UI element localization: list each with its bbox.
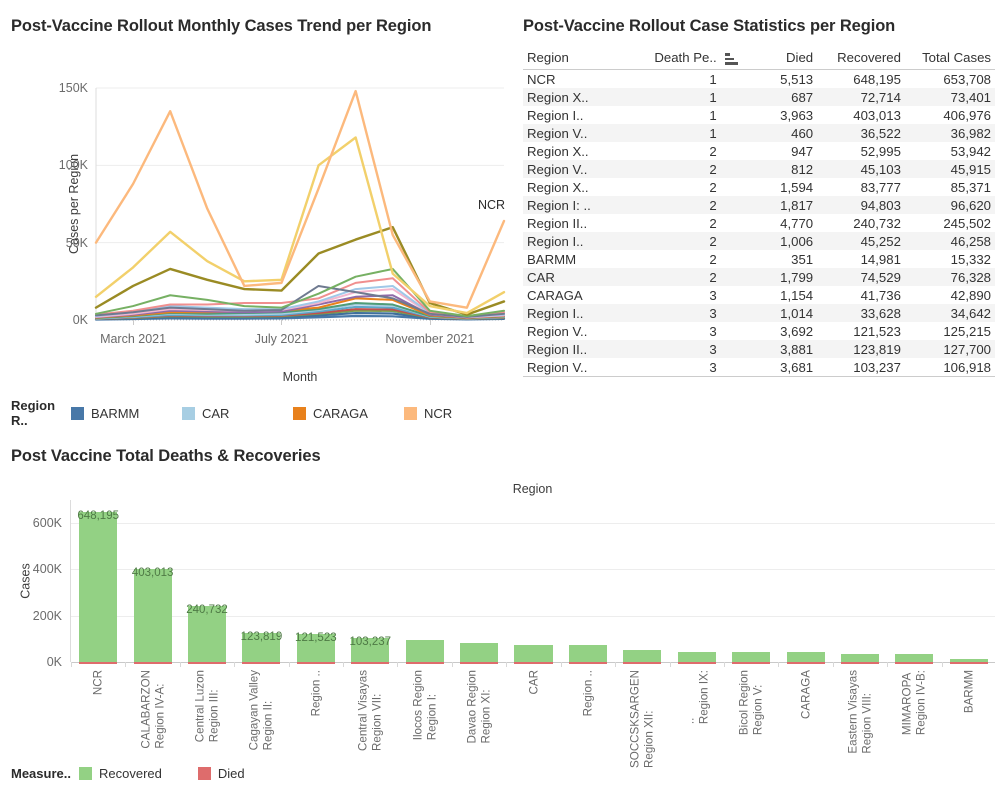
bar-recovered[interactable]: [406, 640, 444, 662]
bar-recovered[interactable]: [678, 652, 716, 662]
bar-x-label-line: Central Visayas: [357, 670, 370, 751]
bar-died[interactable]: [623, 662, 661, 664]
bar-x-label-line: Region VIII:: [860, 670, 873, 754]
table-row[interactable]: CAR21,79974,52976,328: [523, 268, 995, 286]
bar-x-label-line: Eastern Visayas: [846, 670, 859, 754]
cell-total-cases: 125,215: [905, 322, 995, 340]
bar-x-label-line: Region II:: [262, 670, 275, 750]
cell-total-cases: 653,708: [905, 70, 995, 89]
cell-spacer: [721, 106, 751, 124]
cell-recovered: 36,522: [817, 124, 905, 142]
cell-total-cases: 46,258: [905, 232, 995, 250]
legend-label: BARMM: [91, 406, 139, 421]
cell-spacer: [721, 232, 751, 250]
bar-x-tick-mark: [778, 662, 779, 667]
bar-died[interactable]: [569, 662, 607, 664]
bar-x-label: Region IV-A:CALABARZON: [139, 670, 166, 749]
bar-died[interactable]: [950, 662, 988, 664]
bar-x-label-line: Region IV-A:: [153, 670, 166, 749]
cell-recovered: 121,523: [817, 322, 905, 340]
bar-legend-item-died[interactable]: Died: [198, 766, 245, 781]
bar-recovered[interactable]: [732, 652, 770, 662]
cell-died: 812: [751, 160, 818, 178]
bar-data-label: 123,819: [241, 631, 283, 643]
bar-legend-items: RecoveredDied: [79, 766, 281, 781]
bar-column[interactable]: [787, 500, 825, 662]
bar-died[interactable]: [514, 662, 552, 664]
cell-region: Region V..: [523, 358, 627, 377]
bar-x-label-line: Region ..: [309, 670, 322, 716]
line-x-tick-mark: [430, 320, 431, 325]
cell-total-cases: 96,620: [905, 196, 995, 214]
cell-region: Region X..: [523, 88, 627, 106]
legend-items: BARMMCARCARAGANCR: [71, 406, 515, 421]
bar-legend-swatch: [198, 767, 211, 780]
bar-column[interactable]: [623, 500, 661, 662]
bar-x-label-line: ..: [683, 670, 696, 724]
bar-column[interactable]: [79, 500, 117, 662]
bar-x-label-line: Region IX:: [697, 670, 710, 724]
bar-x-label: Region VIII:Eastern Visayas: [846, 670, 873, 754]
column-header-death-percentage[interactable]: Death Pe..: [627, 48, 721, 70]
bar-x-label-line: CALABARZON: [139, 670, 152, 749]
table-row[interactable]: Region I..13,963403,013406,976: [523, 106, 995, 124]
line-y-tick: 0K: [73, 313, 88, 327]
bar-recovered[interactable]: [460, 643, 498, 662]
line-x-tick-mark: [281, 320, 282, 325]
cell-total-cases: 73,401: [905, 88, 995, 106]
table-title: Post-Vaccine Rollout Case Statistics per…: [523, 16, 998, 38]
bar-legend-swatch: [79, 767, 92, 780]
line-series: [96, 137, 504, 313]
cell-recovered: 33,628: [817, 304, 905, 322]
cell-spacer: [721, 268, 751, 286]
bar-chart-title: Post Vaccine Total Deaths & Recoveries: [11, 446, 611, 468]
legend-label: CAR: [202, 406, 229, 421]
bar-y-tick: 0K: [47, 655, 62, 669]
case-statistics-table: Region Death Pe.. Died Recovered Total C…: [523, 48, 995, 377]
cell-died: 3,881: [751, 340, 818, 358]
cell-recovered: 72,714: [817, 88, 905, 106]
bar-y-tick: 400K: [33, 562, 62, 576]
bar-legend-title: Measure..: [11, 766, 71, 781]
legend-swatch: [182, 407, 195, 420]
bar-x-tick-mark: [615, 662, 616, 667]
line-x-tick: March 2021: [100, 332, 166, 346]
bar-x-label: BARMM: [962, 670, 975, 713]
cell-spacer: [721, 88, 751, 106]
bar-column[interactable]: [188, 500, 226, 662]
cell-spacer: [721, 214, 751, 232]
legend-item-barmm[interactable]: BARMM: [71, 406, 182, 421]
cell-spacer: [721, 340, 751, 358]
bar-recovered[interactable]: [79, 512, 117, 662]
table-row[interactable]: Region I..21,00645,25246,258: [523, 232, 995, 250]
cell-spacer: [721, 250, 751, 268]
cell-death-percentage: 2: [627, 214, 721, 232]
cell-died: 1,014: [751, 304, 818, 322]
bar-x-label-line: Region IV-B:: [915, 670, 928, 735]
cell-death-percentage: 1: [627, 106, 721, 124]
line-y-tick: 50K: [66, 236, 88, 250]
bar-data-label: 240,732: [186, 604, 228, 616]
bar-x-tick-mark: [506, 662, 507, 667]
bar-died[interactable]: [895, 662, 933, 664]
bar-y-axis-title: Cases: [19, 563, 33, 598]
bar-column[interactable]: [841, 500, 879, 662]
line-y-tick: 100K: [59, 158, 88, 172]
legend-title: Region R..: [11, 398, 63, 428]
bar-x-tick-mark: [234, 662, 235, 667]
bar-x-label: Region IV-B:MIMAROPA: [901, 670, 928, 735]
bar-x-tick-mark: [289, 662, 290, 667]
bar-x-label: Region III:Central Luzon: [194, 670, 221, 742]
cell-death-percentage: 2: [627, 268, 721, 286]
cell-recovered: 403,013: [817, 106, 905, 124]
table-header-row: Region Death Pe.. Died Recovered Total C…: [523, 48, 995, 70]
cell-death-percentage: 3: [627, 286, 721, 304]
cell-recovered: 41,736: [817, 286, 905, 304]
bar-x-label-line: BARMM: [962, 670, 975, 713]
cell-total-cases: 106,918: [905, 358, 995, 377]
bar-died[interactable]: [188, 662, 226, 664]
cell-death-percentage: 1: [627, 88, 721, 106]
bar-x-tick-mark: [887, 662, 888, 667]
table-row[interactable]: Region I..31,01433,62834,642: [523, 304, 995, 322]
table-row[interactable]: BARMM235114,98115,332: [523, 250, 995, 268]
bar-y-tick: 600K: [33, 516, 62, 530]
cell-death-percentage: 3: [627, 322, 721, 340]
bar-x-label: NCR: [92, 670, 105, 695]
cell-died: 1,817: [751, 196, 818, 214]
cell-region: Region V..: [523, 124, 627, 142]
cell-death-percentage: 2: [627, 232, 721, 250]
bar-column[interactable]: [134, 500, 172, 662]
cell-recovered: 14,981: [817, 250, 905, 268]
bar-died[interactable]: [678, 662, 716, 664]
table-row[interactable]: NCR15,513648,195653,708: [523, 70, 995, 89]
table-row[interactable]: Region X..168772,71473,401: [523, 88, 995, 106]
monthly-cases-trend-panel: Post-Vaccine Rollout Monthly Cases Trend…: [0, 0, 515, 432]
cell-region: Region I..: [523, 304, 627, 322]
table-row[interactable]: Region V..146036,52236,982: [523, 124, 995, 142]
cell-recovered: 52,995: [817, 142, 905, 160]
cell-death-percentage: 2: [627, 250, 721, 268]
bar-x-tick-mark: [670, 662, 671, 667]
bar-recovered[interactable]: [623, 650, 661, 662]
bar-x-tick-mark: [833, 662, 834, 667]
cell-recovered: 123,819: [817, 340, 905, 358]
measure-color-legend: Measure.. RecoveredDied: [11, 766, 281, 781]
bar-x-tick-mark: [71, 662, 72, 667]
column-header-died[interactable]: Died: [751, 48, 818, 70]
legend-item-car[interactable]: CAR: [182, 406, 293, 421]
column-header-total-cases[interactable]: Total Cases: [905, 48, 995, 70]
line-y-tick: 150K: [59, 81, 88, 95]
cell-region: Region X..: [523, 142, 627, 160]
cell-region: Region II..: [523, 214, 627, 232]
cell-death-percentage: 1: [627, 70, 721, 89]
bar-x-label-line: NCR: [92, 670, 105, 695]
bar-data-label: 648,195: [77, 510, 119, 522]
cell-region: Region I..: [523, 106, 627, 124]
cell-died: 1,006: [751, 232, 818, 250]
cell-spacer: [721, 178, 751, 196]
bar-x-tick-mark: [125, 662, 126, 667]
cell-death-percentage: 2: [627, 142, 721, 160]
bar-x-label-line: Region V:: [752, 670, 765, 735]
bar-column[interactable]: [678, 500, 716, 662]
bar-recovered[interactable]: [841, 654, 879, 662]
bar-died[interactable]: [460, 662, 498, 664]
table-row[interactable]: Region X..21,59483,77785,371: [523, 178, 995, 196]
cell-died: 947: [751, 142, 818, 160]
cell-died: 460: [751, 124, 818, 142]
bar-x-label-line: Region I:: [425, 670, 438, 740]
cell-region: Region II..: [523, 340, 627, 358]
bar-recovered[interactable]: [514, 645, 552, 662]
line-chart-plot-area: Cases per Region 0K50K100K150KMarch 2021…: [96, 88, 504, 320]
cell-spacer: [721, 358, 751, 377]
bar-x-tick-mark: [180, 662, 181, 667]
bar-x-label-line: Region VII:: [371, 670, 384, 751]
cell-died: 1,154: [751, 286, 818, 304]
bar-x-label-line: Region ..: [581, 670, 594, 716]
cell-total-cases: 36,982: [905, 124, 995, 142]
bar-x-label: Region XI:Davao Region: [466, 670, 493, 743]
bar-recovered[interactable]: [895, 654, 933, 662]
bar-data-label: 103,237: [349, 636, 391, 648]
bar-x-tick-mark: [343, 662, 344, 667]
cell-region: Region I..: [523, 232, 627, 250]
table-row[interactable]: Region V..33,692121,523125,215: [523, 322, 995, 340]
region-color-legend: Region R.. BARMMCARCARAGANCR: [11, 398, 515, 428]
cell-spacer: [721, 124, 751, 142]
bar-x-tick-mark: [452, 662, 453, 667]
bar-x-label: Region II:Cagayan Valley: [248, 670, 275, 750]
legend-label: CARAGA: [313, 406, 368, 421]
legend-item-ncr[interactable]: NCR: [404, 406, 515, 421]
legend-swatch: [293, 407, 306, 420]
bar-column[interactable]: [895, 500, 933, 662]
table-row[interactable]: Region V..33,681103,237106,918: [523, 358, 995, 377]
cell-total-cases: 127,700: [905, 340, 995, 358]
cell-death-percentage: 2: [627, 160, 721, 178]
bar-x-label: Region VII:Central Visayas: [357, 670, 384, 751]
bar-x-label-line: Central Luzon: [194, 670, 207, 742]
table-row[interactable]: Region V..281245,10345,915: [523, 160, 995, 178]
cell-spacer: [721, 304, 751, 322]
bar-x-tick-mark: [942, 662, 943, 667]
cell-died: 3,692: [751, 322, 818, 340]
line-x-tick: November 2021: [385, 332, 474, 346]
cell-region: BARMM: [523, 250, 627, 268]
bar-died[interactable]: [242, 662, 280, 664]
cell-region: CARAGA: [523, 286, 627, 304]
cell-region: CAR: [523, 268, 627, 286]
cell-recovered: 45,252: [817, 232, 905, 250]
bar-column[interactable]: [950, 500, 988, 662]
bar-legend-label: Recovered: [99, 766, 162, 781]
cell-spacer: [721, 286, 751, 304]
bar-x-label-line: SOCCSKSARGEN: [629, 670, 642, 768]
bar-died[interactable]: [406, 662, 444, 664]
bar-x-label: Region I:Ilocos Region: [411, 670, 438, 740]
bar-died[interactable]: [79, 662, 117, 664]
bar-x-label-line: Region III:: [208, 670, 221, 742]
cell-total-cases: 53,942: [905, 142, 995, 160]
legend-swatch: [71, 407, 84, 420]
bar-column[interactable]: [732, 500, 770, 662]
column-header-region[interactable]: Region: [523, 48, 627, 70]
bar-column-header: Region: [70, 482, 995, 496]
bar-y-tick: 200K: [33, 609, 62, 623]
cell-total-cases: 245,502: [905, 214, 995, 232]
cell-recovered: 94,803: [817, 196, 905, 214]
cell-total-cases: 45,915: [905, 160, 995, 178]
table-row[interactable]: Region I: ..21,81794,80396,620: [523, 196, 995, 214]
line-x-tick: July 2021: [255, 332, 309, 346]
bar-x-label-line: CARAGA: [799, 670, 812, 719]
cell-death-percentage: 1: [627, 124, 721, 142]
bar-recovered[interactable]: [569, 645, 607, 662]
bar-x-label: CARAGA: [799, 670, 812, 719]
bar-x-tick-mark: [397, 662, 398, 667]
bar-legend-label: Died: [218, 766, 245, 781]
bar-x-label-line: Region XI:: [480, 670, 493, 743]
legend-swatch: [404, 407, 417, 420]
cell-region: Region V..: [523, 160, 627, 178]
bar-x-label-line: Region XII:: [643, 670, 656, 768]
cell-spacer: [721, 70, 751, 89]
legend-item-caraga[interactable]: CARAGA: [293, 406, 404, 421]
bar-x-label: Region IX:..: [683, 670, 710, 724]
bar-chart-canvas: 648,195NCR403,013Region IV-A:CALABARZON2…: [70, 500, 995, 662]
cell-region: Region X..: [523, 178, 627, 196]
cell-total-cases: 15,332: [905, 250, 995, 268]
cell-death-percentage: 3: [627, 304, 721, 322]
table-row[interactable]: Region X..294752,99553,942: [523, 142, 995, 160]
cell-region: Region I: ..: [523, 196, 627, 214]
cell-died: 5,513: [751, 70, 818, 89]
line-x-axis-title: Month: [96, 370, 504, 384]
bar-died[interactable]: [297, 662, 335, 664]
cell-died: 4,770: [751, 214, 818, 232]
column-header-recovered[interactable]: Recovered: [817, 48, 905, 70]
cell-recovered: 103,237: [817, 358, 905, 377]
line-chart-canvas: [96, 88, 504, 320]
cell-died: 3,681: [751, 358, 818, 377]
bar-recovered[interactable]: [787, 652, 825, 662]
bar-column[interactable]: [406, 500, 444, 662]
cell-recovered: 240,732: [817, 214, 905, 232]
cell-death-percentage: 3: [627, 358, 721, 377]
cell-total-cases: 406,976: [905, 106, 995, 124]
cell-recovered: 83,777: [817, 178, 905, 196]
sort-descending-icon[interactable]: [721, 48, 751, 70]
cell-spacer: [721, 196, 751, 214]
line-chart-title: Post-Vaccine Rollout Monthly Cases Trend…: [11, 16, 481, 38]
cell-recovered: 45,103: [817, 160, 905, 178]
legend-label: NCR: [424, 406, 452, 421]
bar-x-label-line: Ilocos Region: [411, 670, 424, 740]
bar-x-label-line: Bicol Region: [738, 670, 751, 735]
deaths-recoveries-panel: Post Vaccine Total Deaths & Recoveries R…: [0, 432, 1000, 800]
bar-died[interactable]: [134, 662, 172, 664]
cell-died: 351: [751, 250, 818, 268]
bar-x-tick-mark: [724, 662, 725, 667]
table-body: NCR15,513648,195653,708Region X..168772,…: [523, 70, 995, 377]
bar-recovered[interactable]: [134, 569, 172, 662]
cell-spacer: [721, 322, 751, 340]
bar-x-label-line: CAR: [527, 670, 540, 694]
cell-total-cases: 76,328: [905, 268, 995, 286]
cell-recovered: 648,195: [817, 70, 905, 89]
table-row[interactable]: Region II..24,770240,732245,502: [523, 214, 995, 232]
bar-died[interactable]: [841, 662, 879, 664]
cell-died: 1,799: [751, 268, 818, 286]
bar-x-label: Region ..: [309, 670, 322, 716]
cell-recovered: 74,529: [817, 268, 905, 286]
bar-x-label-line: Cagayan Valley: [248, 670, 261, 750]
cell-spacer: [721, 160, 751, 178]
bar-died[interactable]: [732, 662, 770, 664]
cell-total-cases: 85,371: [905, 178, 995, 196]
line-chart-svg: [96, 88, 504, 320]
bar-column[interactable]: [569, 500, 607, 662]
bar-x-label: CAR: [527, 670, 540, 694]
cell-death-percentage: 2: [627, 178, 721, 196]
bar-x-label: Region XII:SOCCSKSARGEN: [629, 670, 656, 768]
bar-died[interactable]: [787, 662, 825, 664]
bar-data-label: 121,523: [295, 632, 337, 644]
cell-died: 687: [751, 88, 818, 106]
cell-died: 1,594: [751, 178, 818, 196]
cell-region: Region V..: [523, 322, 627, 340]
bar-data-label: 403,013: [132, 567, 174, 579]
dashboard: Post-Vaccine Rollout Monthly Cases Trend…: [0, 0, 1000, 800]
bar-x-label: Region V:Bicol Region: [738, 670, 765, 735]
cell-spacer: [721, 142, 751, 160]
bar-x-label-line: MIMAROPA: [901, 670, 914, 735]
bar-x-tick-mark: [561, 662, 562, 667]
bar-died[interactable]: [351, 662, 389, 664]
bar-x-label-line: Davao Region: [466, 670, 479, 743]
bar-chart-plot-area: Cases 648,195NCR403,013Region IV-A:CALAB…: [70, 500, 995, 662]
cell-region: NCR: [523, 70, 627, 89]
bar-x-label: Region ..: [581, 670, 594, 716]
table-row[interactable]: Region II..33,881123,819127,700: [523, 340, 995, 358]
bar-column[interactable]: [460, 500, 498, 662]
line-x-tick-mark: [133, 320, 134, 325]
case-statistics-panel: Post-Vaccine Rollout Case Statistics per…: [515, 0, 1000, 432]
cell-death-percentage: 3: [627, 340, 721, 358]
cell-total-cases: 42,890: [905, 286, 995, 304]
cell-died: 3,963: [751, 106, 818, 124]
table-row[interactable]: CARAGA31,15441,73642,890: [523, 286, 995, 304]
bar-column[interactable]: [514, 500, 552, 662]
ncr-line-annotation: NCR: [478, 198, 505, 212]
bar-legend-item-recovered[interactable]: Recovered: [79, 766, 162, 781]
cell-total-cases: 34,642: [905, 304, 995, 322]
cell-death-percentage: 2: [627, 196, 721, 214]
